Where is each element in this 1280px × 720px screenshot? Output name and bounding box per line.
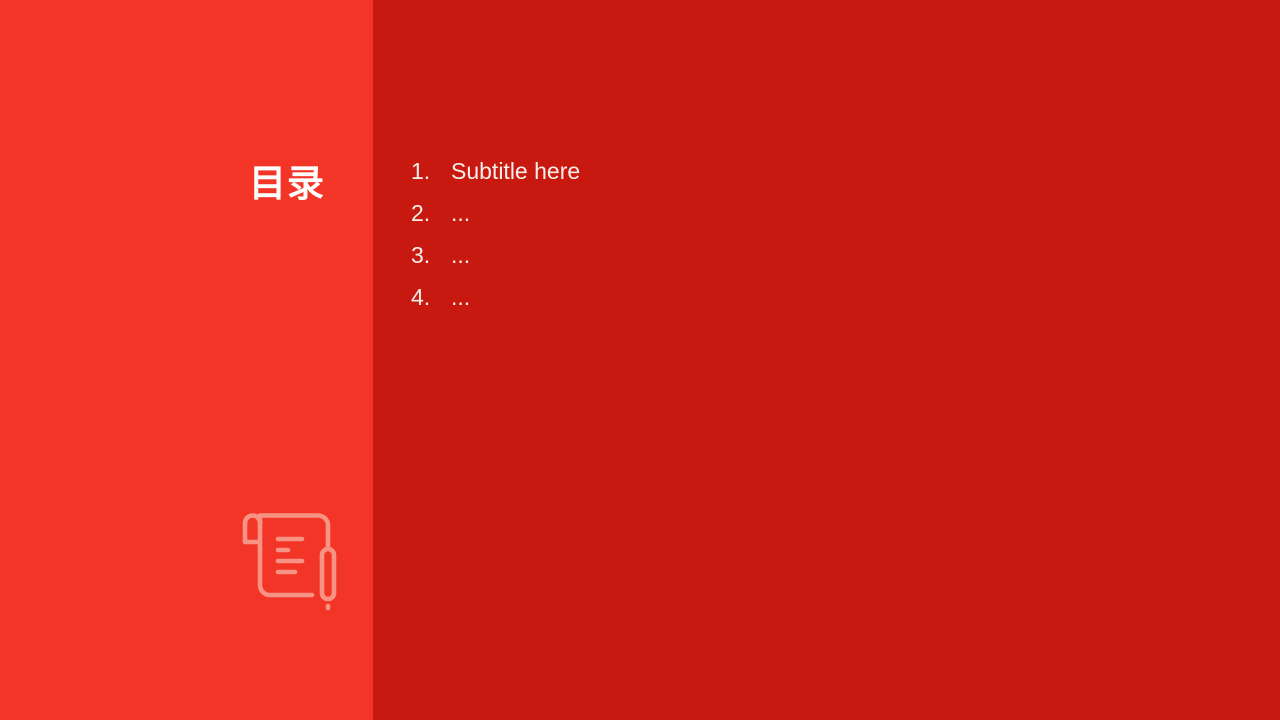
right-content-panel: 1. Subtitle here 2. ... 3. ... 4. ...	[373, 0, 1280, 720]
left-title-panel: 目录	[0, 0, 373, 720]
page-title: 目录	[249, 165, 325, 204]
list-item[interactable]: 3. ...	[411, 234, 1051, 276]
list-item[interactable]: 4. ...	[411, 276, 1051, 318]
table-of-contents-slide: 目录 1. Su	[0, 0, 1280, 720]
list-item[interactable]: 1. Subtitle here	[411, 150, 1051, 192]
table-of-contents-list: 1. Subtitle here 2. ... 3. ... 4. ...	[411, 150, 1051, 318]
list-item-number: 1.	[411, 150, 451, 192]
scroll-document-pen-icon	[240, 503, 342, 615]
list-item-label: ...	[451, 192, 1051, 234]
list-item-number: 2.	[411, 192, 451, 234]
list-item-number: 3.	[411, 234, 451, 276]
list-item[interactable]: 2. ...	[411, 192, 1051, 234]
list-item-number: 4.	[411, 276, 451, 318]
list-item-label: ...	[451, 276, 1051, 318]
list-item-label: ...	[451, 234, 1051, 276]
list-item-label: Subtitle here	[451, 150, 1051, 192]
